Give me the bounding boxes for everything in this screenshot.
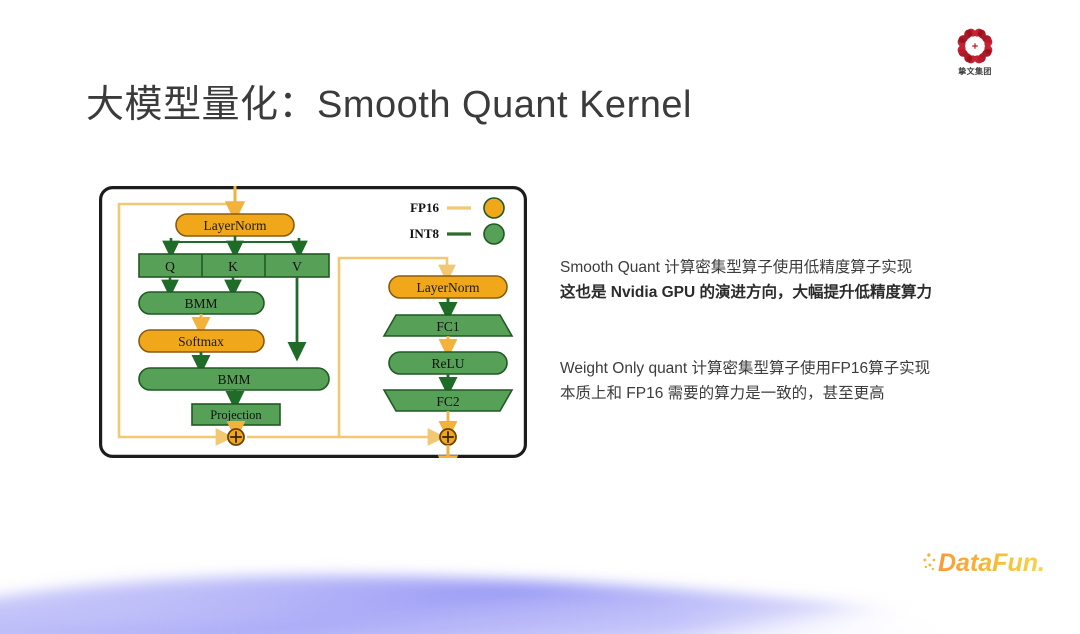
floral-radial-logo-icon — [955, 26, 995, 66]
block-label: BMM — [217, 372, 250, 387]
note-smoothquant: Smooth Quant 计算密集型算子使用低精度算子实现 这也是 Nvidia… — [560, 255, 1060, 305]
note-line: Smooth Quant 计算密集型算子使用低精度算子实现 — [560, 255, 1060, 280]
block-projection: Projection — [192, 404, 280, 425]
note-line: 本质上和 FP16 需要的算力是一致的，甚至更高 — [560, 381, 1060, 406]
block-label: FC1 — [436, 319, 459, 334]
block-label: LayerNorm — [204, 218, 267, 233]
legend-label-int8: INT8 — [409, 226, 439, 241]
block-bmm-2: BMM — [139, 368, 329, 390]
note-line: Weight Only quant 计算密集型算子使用FP16算子实现 — [560, 356, 1060, 381]
block-label-k: K — [228, 259, 238, 274]
block-relu: ReLU — [389, 352, 507, 374]
block-qkv: Q K V — [139, 254, 329, 277]
block-softmax: Softmax — [139, 330, 264, 352]
legend-swatch-fp16 — [484, 198, 504, 218]
block-layernorm-attention: LayerNorm — [176, 214, 294, 236]
block-label: Softmax — [178, 334, 224, 349]
block-label: FC2 — [436, 394, 459, 409]
brand-logo: 挚文集团 — [944, 26, 1006, 82]
block-label: LayerNorm — [417, 280, 480, 295]
note-line: 这也是 Nvidia GPU 的演进方向，大幅提升低精度算力 — [560, 280, 1060, 305]
block-label-q: Q — [165, 259, 175, 274]
block-label-v: V — [292, 259, 302, 274]
brand-wordmark: 挚文集团 — [944, 67, 1006, 77]
decorative-wave — [0, 514, 960, 634]
block-label: BMM — [184, 296, 217, 311]
add-node-ffn — [440, 429, 456, 445]
block-fc1: FC1 — [384, 315, 512, 336]
datafun-logo-icon: DataFun. — [920, 547, 1060, 577]
block-label: ReLU — [432, 356, 465, 371]
page-title: 大模型量化：Smooth Quant Kernel — [86, 73, 692, 128]
block-bmm-1: BMM — [139, 292, 264, 314]
smooth-quant-transformer-block-diagram: LayerNorm Q K V BMM Softmax BMM Pr — [99, 186, 527, 458]
legend-label-fp16: FP16 — [410, 200, 439, 215]
block-fc2: FC2 — [384, 390, 512, 411]
note-weightonly: Weight Only quant 计算密集型算子使用FP16算子实现 本质上和… — [560, 356, 1060, 406]
add-node-attention — [228, 429, 244, 445]
legend-swatch-int8 — [484, 224, 504, 244]
datafun-wordmark: DataFun. — [938, 549, 1045, 577]
block-label: Projection — [210, 408, 262, 422]
block-layernorm-ffn: LayerNorm — [389, 276, 507, 298]
